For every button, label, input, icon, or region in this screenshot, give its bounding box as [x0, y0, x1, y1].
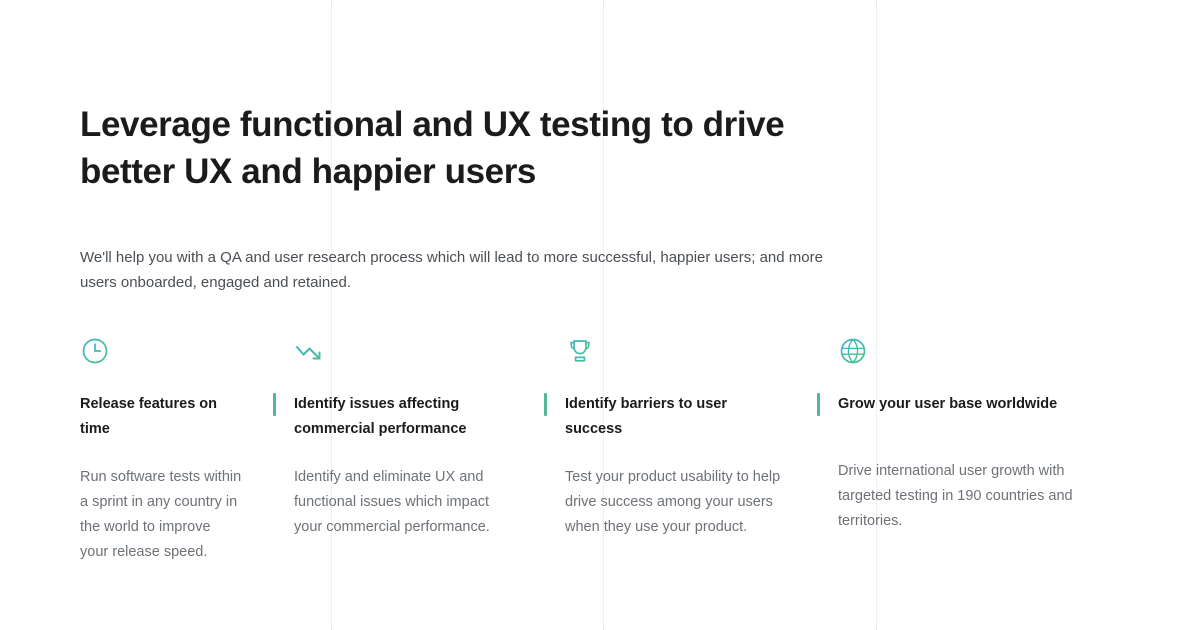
- feature-columns: Release features on time Run software te…: [0, 336, 1200, 565]
- trending-down-icon: [294, 336, 514, 366]
- feature-body-2: Identify and eliminate UX and functional…: [294, 465, 514, 540]
- feature-heading-2: Identify issues affecting commercial per…: [294, 392, 514, 442]
- feature-column-1: Release features on time Run software te…: [0, 336, 272, 565]
- feature-heading-1: Release features on time: [80, 392, 242, 442]
- feature-heading-4: Grow your user base worldwide: [838, 392, 1087, 417]
- feature-column-2: Identify issues affecting commercial per…: [272, 336, 544, 565]
- feature-heading-wrap-4: Grow your user base worldwide: [838, 392, 1087, 436]
- globe-icon: [838, 336, 1087, 366]
- hero-subtitle: We'll help you with a QA and user resear…: [80, 245, 850, 295]
- feature-column-4: Grow your user base worldwide Drive inte…: [817, 336, 1117, 565]
- feature-body-1: Run software tests within a sprint in an…: [80, 465, 242, 565]
- trophy-icon: [565, 336, 787, 366]
- hero-section: Leverage functional and UX testing to dr…: [80, 101, 880, 195]
- feature-heading-wrap-3: Identify barriers to user success: [565, 392, 787, 442]
- feature-heading-wrap-1: Release features on time: [80, 392, 242, 442]
- accent-bar-4: [817, 393, 820, 416]
- page-title: Leverage functional and UX testing to dr…: [80, 101, 880, 195]
- feature-body-4: Drive international user growth with tar…: [838, 459, 1087, 534]
- feature-column-3: Identify barriers to user success Test y…: [544, 336, 817, 565]
- clock-icon: [80, 336, 242, 366]
- accent-bar-3: [544, 393, 547, 416]
- feature-body-3: Test your product usability to help driv…: [565, 465, 787, 540]
- accent-bar-2: [273, 393, 276, 416]
- feature-heading-wrap-2: Identify issues affecting commercial per…: [294, 392, 514, 442]
- feature-heading-3: Identify barriers to user success: [565, 392, 787, 442]
- page-root: Leverage functional and UX testing to dr…: [0, 0, 1200, 630]
